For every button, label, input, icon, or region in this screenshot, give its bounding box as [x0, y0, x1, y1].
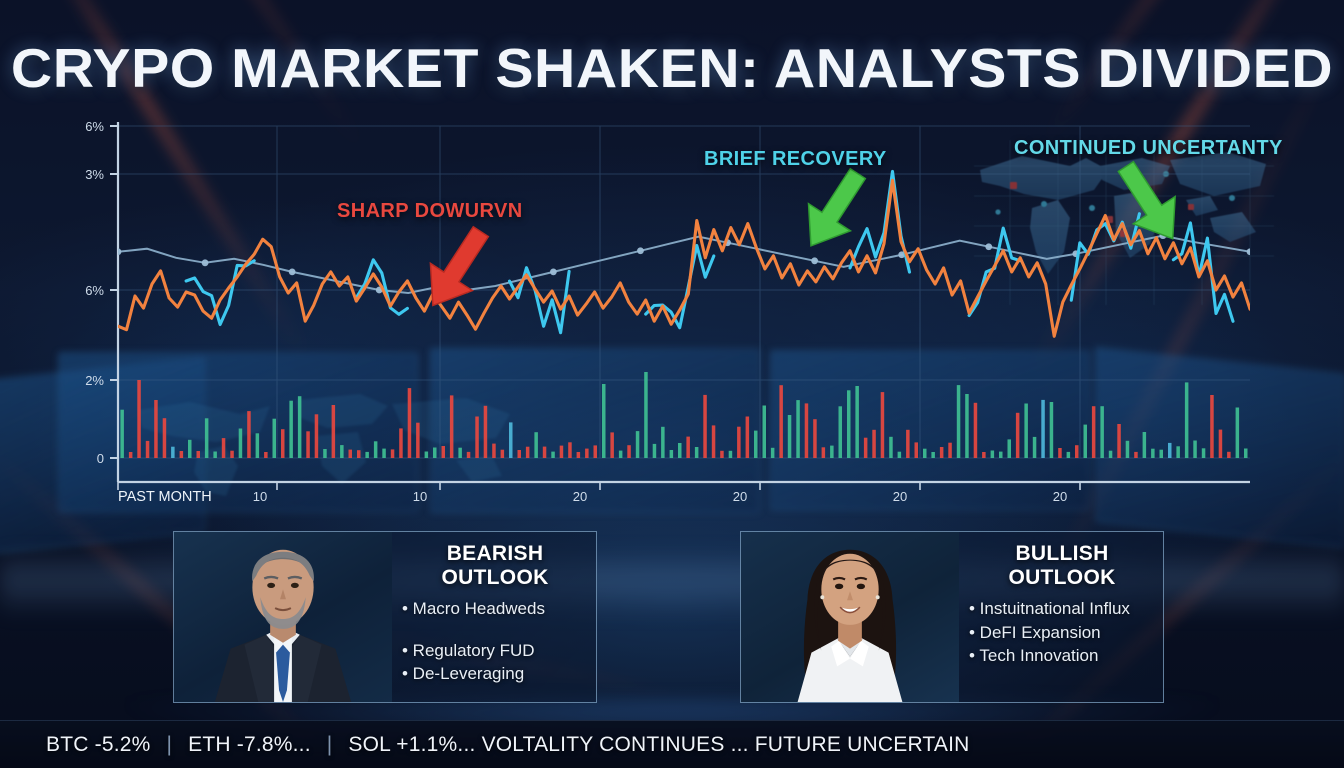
volume-bar	[416, 423, 420, 458]
bearish-bullet-3: • De-Leveraging	[402, 663, 588, 686]
volume-bar	[188, 440, 192, 458]
market-chart: 6%3%6%2%0 PAST MONTH101020202020	[60, 118, 1250, 510]
volume-bar	[425, 452, 429, 459]
volume-bar	[289, 401, 293, 458]
svg-text:2%: 2%	[85, 373, 104, 388]
volume-bar	[661, 427, 665, 458]
volume-bar	[1236, 408, 1240, 459]
volume-bar	[1084, 425, 1088, 458]
bullish-bullet-1: • Instuitnational Influx	[969, 598, 1155, 621]
volume-bar	[1219, 430, 1223, 458]
volume-bar	[839, 406, 843, 458]
volume-bar	[247, 411, 251, 458]
volume-bar	[146, 441, 150, 458]
volume-bar	[273, 419, 277, 458]
volume-bar	[788, 415, 792, 458]
volume-bar	[1016, 413, 1020, 458]
volume-bar	[991, 451, 995, 459]
green-down-arrow-icon-uncertainty	[1092, 154, 1207, 254]
volume-bar	[1050, 402, 1054, 458]
volume-bar	[1244, 449, 1248, 459]
ticker-item-eth: ETH -7.8%...	[188, 733, 311, 757]
volume-bar	[1117, 424, 1121, 458]
volume-bar	[619, 451, 623, 458]
volume-bar	[712, 425, 716, 458]
bearish-bullet-1: • Macro Headweds	[402, 598, 588, 621]
svg-text:10: 10	[413, 489, 427, 504]
svg-text:20: 20	[573, 489, 587, 504]
volume-bar	[205, 418, 209, 458]
volume-bar	[889, 437, 893, 458]
volume-bar	[1067, 452, 1071, 458]
volume-bar	[1134, 452, 1138, 458]
volume-bar	[982, 452, 986, 458]
volume-bar	[467, 452, 471, 458]
volume-bar	[518, 450, 522, 458]
volume-bar	[1160, 450, 1164, 458]
bearish-analyst-panel: BEARISH OUTLOOK • Macro Headweds • Regul…	[173, 531, 597, 703]
volume-bar	[763, 406, 767, 459]
bearish-analyst-portrait	[174, 532, 392, 702]
volume-bar	[1185, 382, 1189, 458]
svg-text:6%: 6%	[85, 283, 104, 298]
volume-bar	[1176, 446, 1180, 458]
volume-bar	[1109, 451, 1113, 458]
volume-bar	[923, 449, 927, 458]
volume-bar	[1041, 400, 1045, 458]
volume-bar	[222, 438, 226, 458]
volume-bar	[906, 430, 910, 458]
volume-bar	[1075, 445, 1079, 458]
bullish-bullet-2: • DeFI Expansion	[969, 622, 1155, 645]
volume-bar	[315, 414, 319, 458]
volume-bar	[948, 443, 952, 458]
annotation-sharp-downturn: SHARP DOWURVN	[337, 200, 523, 223]
volume-bar	[137, 380, 141, 458]
volume-bar	[653, 444, 657, 458]
volume-bar	[1193, 441, 1197, 459]
volume-bar	[349, 450, 353, 458]
volume-bar	[779, 385, 783, 458]
volume-bar	[306, 431, 310, 458]
volume-bar	[475, 417, 479, 459]
volume-bar	[357, 450, 361, 458]
volume-bar	[1126, 441, 1130, 458]
volume-bar	[771, 448, 775, 458]
volume-bar	[610, 432, 614, 458]
green-down-arrow-icon-recovery	[776, 160, 891, 260]
trend-marker	[115, 248, 122, 255]
volume-bar	[534, 432, 538, 458]
volume-bar	[594, 445, 598, 458]
volume-bar	[163, 418, 167, 458]
volume-bar	[847, 390, 851, 458]
volume-bar	[872, 430, 876, 458]
svg-text:20: 20	[893, 489, 907, 504]
volume-bar	[568, 442, 572, 458]
volume-bar	[332, 405, 336, 458]
svg-text:20: 20	[1053, 489, 1067, 504]
volume-bar	[577, 452, 581, 458]
volume-bar	[974, 403, 978, 458]
volume-bar	[999, 452, 1003, 458]
volume-bar	[1202, 448, 1206, 458]
ticker-item-sol: SOL +1.1%... VOLTALITY CONTINUES ... FUT…	[348, 733, 969, 757]
volume-bar	[703, 395, 707, 458]
volume-bar	[501, 450, 505, 458]
volume-bar	[120, 410, 124, 458]
volume-bar	[543, 447, 547, 458]
volume-bar	[551, 452, 555, 458]
volume-bar	[1024, 404, 1028, 459]
volume-bar	[1210, 395, 1214, 458]
volume-bar	[805, 403, 809, 458]
volume-bar	[627, 445, 631, 458]
volume-bar	[154, 400, 158, 458]
volume-bar	[686, 437, 690, 458]
volume-bar	[931, 452, 935, 458]
volume-bar	[670, 450, 674, 458]
bearish-bullet-2: • Regulatory FUD	[402, 640, 588, 663]
volume-bar	[1100, 406, 1104, 458]
volume-bar	[695, 447, 699, 458]
chart-canvas: 6%3%6%2%0 PAST MONTH101020202020	[60, 118, 1250, 510]
volume-bar	[1227, 452, 1231, 458]
volume-bar	[915, 442, 919, 458]
volume-bar	[746, 417, 750, 459]
volume-bar	[374, 441, 378, 458]
svg-text:3%: 3%	[85, 167, 104, 182]
volume-bar	[340, 445, 344, 458]
ticker-separator: |	[151, 733, 189, 757]
volume-bar	[458, 448, 462, 458]
bullish-analyst-portrait	[741, 532, 959, 702]
ticker-item-btc: BTC -5.2%	[46, 733, 151, 757]
bullish-bullet-3: • Tech Innovation	[969, 645, 1155, 668]
trend-marker	[985, 243, 992, 250]
bearish-panel-title: BEARISH OUTLOOK	[402, 542, 588, 590]
x-axis-tick-labels: PAST MONTH101020202020	[118, 489, 1067, 505]
trend-marker	[202, 259, 209, 266]
bullish-analyst-panel: BULLISH OUTLOOK • Instuitnational Influx…	[740, 531, 1164, 703]
volume-bar	[197, 451, 201, 458]
volume-bar	[796, 400, 800, 458]
volume-bar	[1092, 406, 1096, 458]
volume-bar	[813, 419, 817, 458]
volume-bar	[484, 406, 488, 458]
annotation-brief-recovery: BRIEF RECOVERY	[704, 148, 887, 171]
volume-bar	[830, 446, 834, 458]
cyan-segment	[186, 261, 254, 325]
svg-text:PAST MONTH: PAST MONTH	[118, 489, 212, 505]
annotation-continued-uncertainty: CONTINUED UNCERTANTY	[1014, 137, 1283, 160]
volume-bar	[940, 447, 944, 458]
volume-bar	[509, 422, 513, 458]
volume-bar	[822, 447, 826, 458]
volume-bar	[1058, 448, 1062, 458]
volume-bar	[264, 452, 268, 458]
volume-bar	[729, 451, 733, 458]
volume-bar	[171, 447, 175, 458]
y-axis-tick-labels: 6%3%6%2%0	[85, 119, 104, 466]
volume-bar	[526, 447, 530, 458]
volume-bar	[442, 446, 446, 458]
volume-bar	[1033, 437, 1037, 458]
volume-bar	[1168, 443, 1172, 458]
trend-marker	[289, 268, 296, 275]
trend-marker	[637, 247, 644, 254]
svg-text:20: 20	[733, 489, 747, 504]
cyan-segment	[510, 268, 570, 333]
volume-bar	[239, 429, 243, 459]
volume-bar	[433, 448, 437, 459]
svg-text:0: 0	[97, 451, 104, 466]
volume-bar	[365, 452, 369, 458]
volume-bar	[256, 433, 260, 458]
volume-bar	[129, 452, 133, 458]
volume-bar	[180, 451, 184, 458]
volume-bar	[737, 427, 741, 458]
volume-bar	[864, 438, 868, 458]
volume-bars	[120, 372, 1247, 458]
volume-bar	[1151, 449, 1155, 458]
volume-bar	[323, 449, 327, 458]
volume-bar	[957, 385, 961, 458]
volume-bar	[281, 429, 285, 458]
volume-bar	[965, 394, 969, 458]
volume-bar	[213, 452, 217, 459]
volume-bar	[720, 451, 724, 458]
bullish-panel-title: BULLISH OUTLOOK	[969, 542, 1155, 590]
volume-bar	[678, 443, 682, 458]
volume-bar	[450, 395, 454, 458]
trend-marker	[550, 268, 557, 275]
red-down-arrow-icon	[396, 218, 516, 318]
volume-bar	[492, 444, 496, 458]
volume-bar	[644, 372, 648, 458]
volume-bar	[636, 431, 640, 458]
volume-bar	[382, 449, 386, 458]
ticker-separator: |	[311, 733, 349, 757]
volume-bar	[560, 446, 564, 458]
volume-bar	[881, 392, 885, 458]
volume-bar	[1008, 439, 1012, 458]
volume-bar	[408, 388, 412, 458]
volume-bar	[855, 386, 859, 458]
volume-bar	[754, 431, 758, 458]
svg-text:10: 10	[253, 489, 267, 504]
volume-bar	[399, 428, 403, 458]
volume-bar	[1143, 432, 1147, 458]
svg-text:6%: 6%	[85, 119, 104, 134]
volume-bar	[298, 396, 302, 458]
volume-bar	[391, 449, 395, 458]
volume-bar	[602, 384, 606, 458]
volume-bar	[898, 452, 902, 458]
volume-bar	[230, 451, 234, 458]
page-title: CRYPO MARKET SHAKEN: ANALYSTS DIVIDED	[0, 36, 1344, 100]
market-ticker-bar: BTC -5.2% | ETH -7.8%... | SOL +1.1%... …	[0, 720, 1344, 768]
volume-bar	[585, 449, 589, 458]
trend-marker	[1247, 248, 1250, 255]
